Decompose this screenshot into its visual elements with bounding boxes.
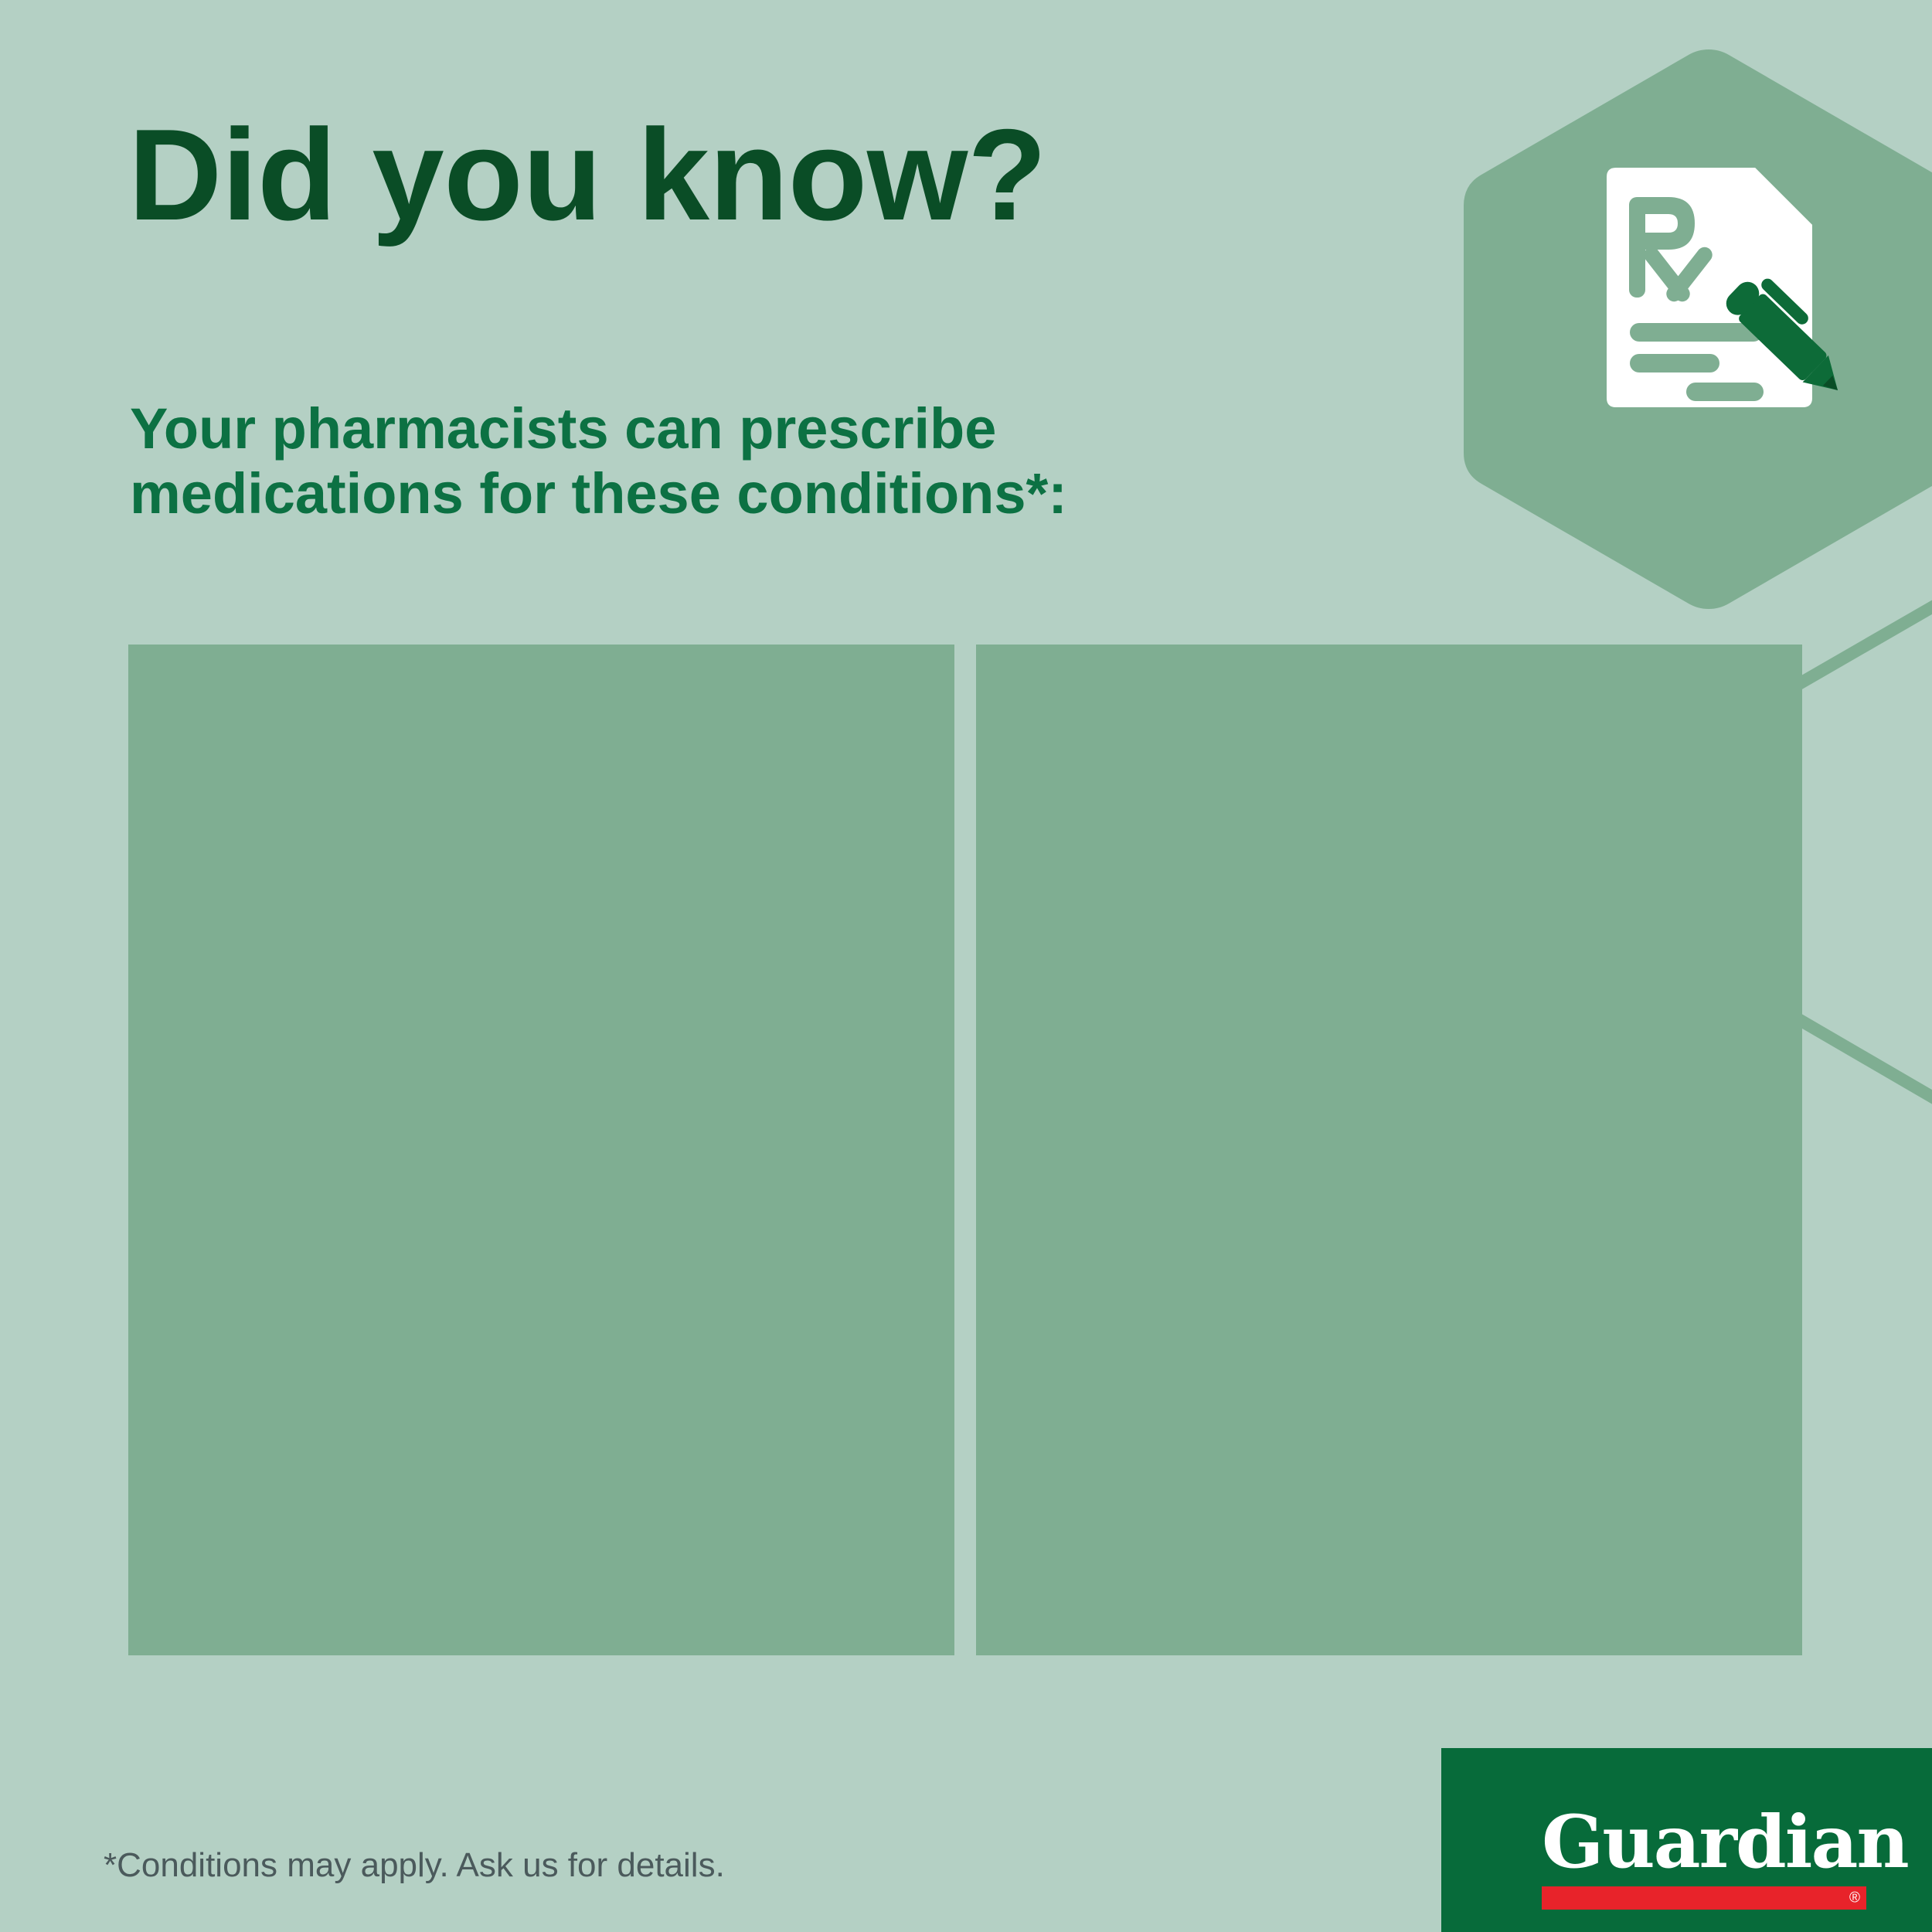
conditions-panel-group	[128, 645, 1802, 1655]
poster-canvas: Did you know? Your pharmacists can presc…	[0, 0, 1932, 1932]
page-subtitle: Your pharmacists can prescribe medicatio…	[130, 396, 1067, 526]
guardian-red-rule: ®	[1542, 1886, 1866, 1910]
conditions-panel-right	[976, 645, 1802, 1655]
page-title: Did you know?	[128, 110, 1046, 240]
conditions-panel-left	[128, 645, 954, 1655]
page-subtitle-line-1: Your pharmacists can prescribe	[130, 396, 1067, 461]
registered-trademark-icon: ®	[1849, 1891, 1860, 1906]
page-subtitle-line-2: medications for these conditions*:	[130, 461, 1067, 526]
guardian-logo-inner: Guardian ®	[1542, 1808, 1866, 1910]
guardian-logo: Guardian ®	[1441, 1748, 1932, 1932]
footnote-disclaimer: *Conditions may apply. Ask us for detail…	[104, 1845, 725, 1886]
prescription-document-pen-icon	[1588, 166, 1843, 421]
guardian-wordmark: Guardian	[1542, 1808, 1866, 1877]
